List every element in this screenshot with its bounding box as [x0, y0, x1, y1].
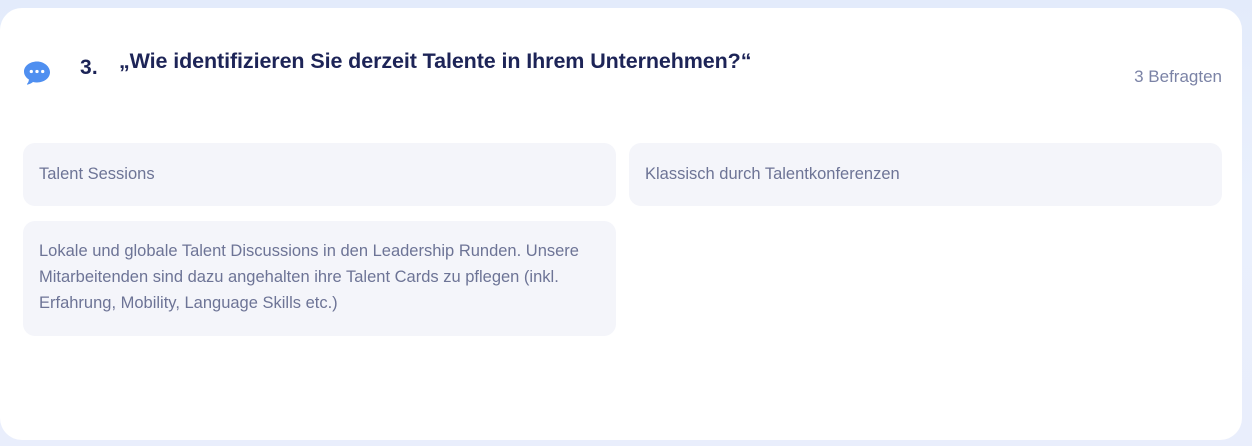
- question-number: 3.: [80, 56, 98, 80]
- respondents-count: 3 Befragten: [1134, 67, 1222, 87]
- answer-card: Lokale und globale Talent Discussions in…: [23, 221, 616, 336]
- answer-text: Klassisch durch Talentkonferenzen: [645, 161, 1206, 187]
- speech-bubble-icon: [22, 60, 52, 86]
- answers-column-right: Klassisch durch Talentkonferenzen: [629, 143, 1222, 336]
- question-result-card: 3. „Wie identifizieren Sie derzeit Talen…: [0, 8, 1242, 440]
- answer-card: Talent Sessions: [23, 143, 616, 206]
- page-title: „Wie identifizieren Sie derzeit Talente …: [119, 48, 759, 75]
- answer-text: Lokale und globale Talent Discussions in…: [39, 238, 600, 316]
- answers-column-left: Talent Sessions Lokale und globale Talen…: [23, 143, 616, 336]
- answer-text: Talent Sessions: [39, 161, 600, 187]
- answer-card: Klassisch durch Talentkonferenzen: [629, 143, 1222, 206]
- question-header: 3. „Wie identifizieren Sie derzeit Talen…: [0, 38, 1242, 104]
- answers-grid: Talent Sessions Lokale und globale Talen…: [23, 143, 1222, 336]
